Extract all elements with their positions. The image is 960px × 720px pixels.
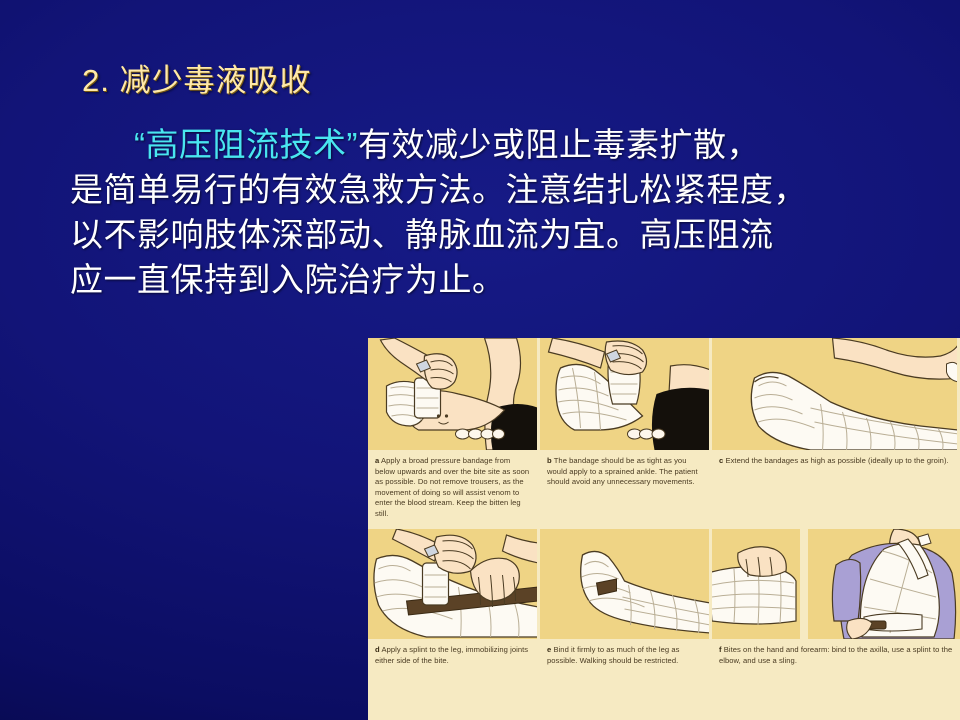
figure-label-c: c	[719, 456, 723, 465]
figure-caption-a: a Apply a broad pressure bandage from be…	[368, 450, 537, 524]
illustration-c	[712, 338, 957, 450]
first-aid-figure: a Apply a broad pressure bandage from be…	[368, 338, 960, 720]
figure-caption-f-text: Bites on the hand and forearm: bind to t…	[719, 645, 952, 665]
figure-panel-b: b The bandage should be as tight as you …	[540, 338, 712, 529]
figure-caption-b-text: The bandage should be as tight as you wo…	[547, 456, 698, 486]
figure-panel-a: a Apply a broad pressure bandage from be…	[368, 338, 540, 529]
highlight-term: “高压阻流技术”	[134, 126, 358, 163]
figure-caption-f: f Bites on the hand and forearm: bind to…	[712, 639, 960, 670]
body-line-1-rest: 有效减少或阻止毒素扩散，	[358, 126, 760, 163]
figure-caption-d-text: Apply a splint to the leg, immobilizing …	[375, 645, 528, 665]
figure-label-f: f	[719, 645, 722, 654]
slide-canvas: 2. 减少毒液吸收 “高压阻流技术”有效减少或阻止毒素扩散， 是简单易行的有效急…	[0, 0, 960, 720]
figure-panel-c: c Extend the bandages as high as possibl…	[712, 338, 960, 529]
figure-caption-c: c Extend the bandages as high as possibl…	[712, 450, 957, 471]
figure-caption-e-text: Bind it firmly to as much of the leg as …	[547, 645, 680, 665]
figure-label-d: d	[375, 645, 380, 654]
body-line-4: 应一直保持到入院治疗为止。	[70, 261, 506, 298]
figure-caption-b: b The bandage should be as tight as you …	[540, 450, 709, 492]
figure-caption-c-text: Extend the bandages as high as possible …	[725, 456, 948, 465]
figure-label-a: a	[375, 456, 379, 465]
figure-caption-d: d Apply a splint to the leg, immobilizin…	[368, 639, 537, 670]
page-title: 2. 减少毒液吸收	[82, 62, 311, 99]
body-line-3: 以不影响肢体深部动、静脉血流为宜。高压阻流	[70, 216, 774, 253]
figure-caption-e: e Bind it firmly to as much of the leg a…	[540, 639, 709, 670]
figure-caption-a-text: Apply a broad pressure bandage from belo…	[375, 456, 529, 518]
body-line-2: 是简单易行的有效急救方法。注意结扎松紧程度，	[70, 171, 807, 208]
figure-label-b: b	[547, 456, 552, 465]
illustration-f	[712, 529, 960, 639]
illustration-e	[540, 529, 709, 639]
illustration-b	[540, 338, 709, 450]
illustration-d	[368, 529, 537, 639]
figure-label-e: e	[547, 645, 551, 654]
figure-panel-f: f Bites on the hand and forearm: bind to…	[712, 529, 960, 720]
illustration-a	[368, 338, 537, 450]
body-paragraph: “高压阻流技术”有效减少或阻止毒素扩散， 是简单易行的有效急救方法。注意结扎松紧…	[70, 122, 930, 302]
figure-panel-d: d Apply a splint to the leg, immobilizin…	[368, 529, 540, 720]
figure-panel-e: e Bind it firmly to as much of the leg a…	[540, 529, 712, 720]
